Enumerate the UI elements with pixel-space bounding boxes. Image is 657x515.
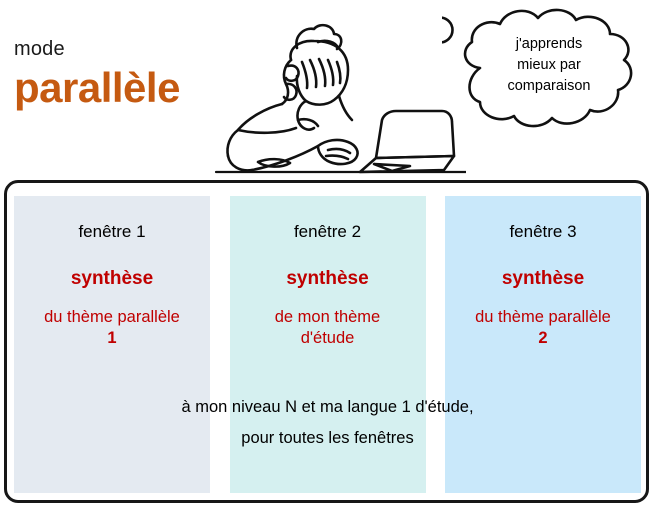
theme-line-1a: du thème parallèle	[44, 308, 180, 326]
window-columns: fenêtre 1 synthèse du thème parallèle 1 …	[14, 196, 641, 493]
theme-description-1: du thème parallèle 1	[14, 307, 210, 349]
window-column-1: fenêtre 1 synthèse du thème parallèle 1	[14, 196, 210, 493]
thought-bubble-text: j'apprends mieux par comparaison	[470, 34, 628, 97]
thought-line-3: comparaison	[507, 78, 590, 94]
window-column-2: fenêtre 2 synthèse de mon thème d'étude	[230, 196, 426, 493]
theme-line-2a: de mon thème	[275, 308, 380, 326]
person-studying-at-laptop-illustration	[196, 0, 466, 178]
theme-description-2: de mon thème d'étude	[230, 307, 426, 349]
theme-description-3: du thème parallèle 2	[445, 307, 641, 349]
header-area: mode parallèle	[0, 0, 657, 180]
mode-label: mode	[14, 38, 65, 61]
window-label-1: fenêtre 1	[14, 222, 210, 242]
theme-line-1b: 1	[107, 329, 116, 347]
window-label-3: fenêtre 3	[445, 222, 641, 242]
mode-title: parallèle	[14, 66, 180, 110]
theme-line-3b: 2	[538, 329, 547, 347]
synthese-heading-2: synthèse	[230, 268, 426, 290]
window-column-3: fenêtre 3 synthèse du thème parallèle 2	[445, 196, 641, 493]
theme-line-3a: du thème parallèle	[475, 308, 611, 326]
thought-line-1: j'apprends	[516, 36, 582, 52]
window-label-2: fenêtre 2	[230, 222, 426, 242]
synthese-heading-3: synthèse	[445, 268, 641, 290]
theme-line-2b: d'étude	[301, 329, 355, 347]
synthese-heading-1: synthèse	[14, 268, 210, 290]
thought-line-2: mieux par	[517, 57, 581, 73]
